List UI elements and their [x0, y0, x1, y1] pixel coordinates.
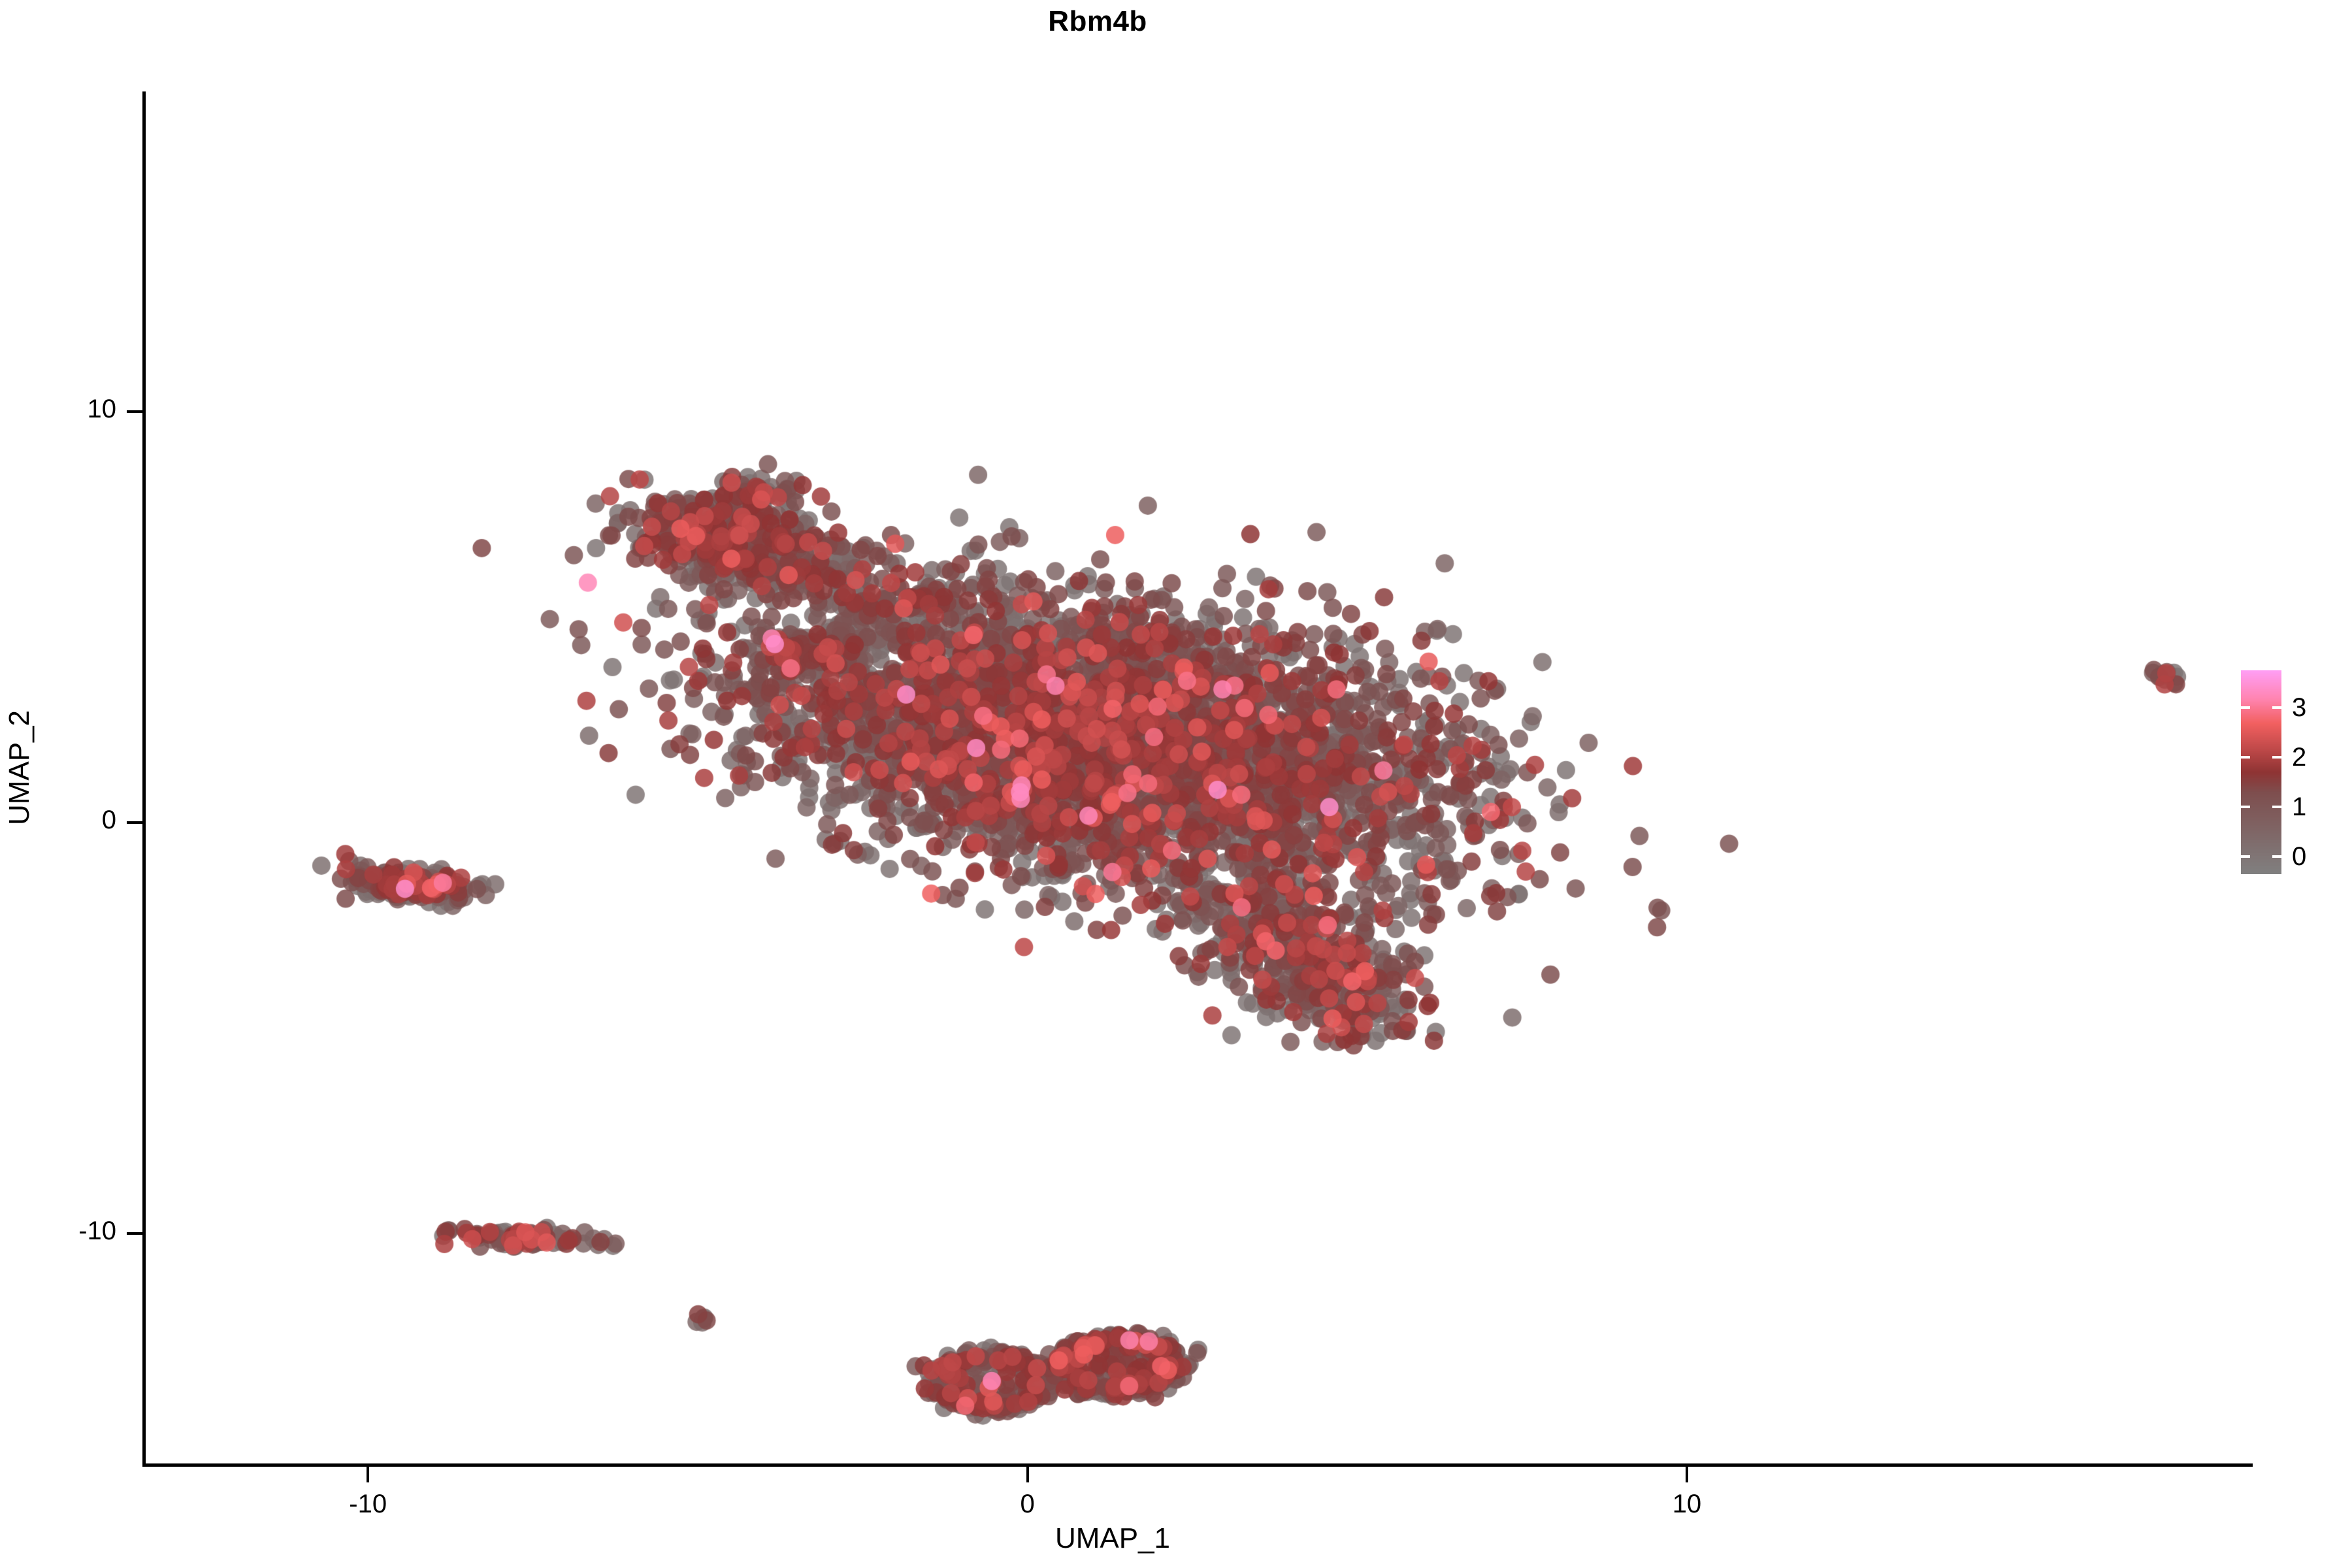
y-tick-label: -10 — [0, 1217, 116, 1246]
colorbar-tick-mark — [2241, 806, 2250, 808]
y-axis-line — [142, 91, 146, 1467]
x-axis-line — [142, 1463, 2253, 1467]
y-axis-title: UMAP_2 — [3, 441, 36, 1094]
x-axis-title: UMAP_1 — [57, 1522, 2168, 1555]
colorbar-gradient — [2241, 670, 2281, 874]
colorbar-tick-label: 3 — [2292, 694, 2306, 721]
plot-panel[interactable] — [144, 91, 2254, 1463]
colorbar-tick-mark — [2272, 806, 2281, 808]
colorbar-tick-mark — [2241, 706, 2250, 709]
y-tick-mark — [127, 1232, 142, 1235]
colorbar-tick-label: 2 — [2292, 744, 2306, 770]
colorbar-tick-mark — [2241, 855, 2250, 858]
y-tick-mark — [127, 821, 142, 824]
colorbar-tick-mark — [2272, 706, 2281, 709]
plot-title: Rbm4b — [0, 5, 2274, 38]
x-tick-label: 10 — [1622, 1490, 1752, 1519]
y-tick-label: 10 — [0, 395, 116, 424]
x-tick-label: 0 — [962, 1490, 1093, 1519]
colorbar-tick-mark — [2241, 756, 2250, 759]
colorbar-tick-mark — [2272, 855, 2281, 858]
scatter-canvas[interactable] — [144, 91, 2254, 1463]
x-tick-mark — [1686, 1467, 1688, 1482]
colorbar-tick-label: 1 — [2292, 794, 2306, 820]
color-legend[interactable]: 3210 — [2241, 666, 2339, 889]
umap-feature-plot: Rbm4b -10010 100-10 UMAP_1 UMAP_2 3210 — [0, 0, 2352, 1568]
colorbar-tick-mark — [2272, 756, 2281, 759]
colorbar-tick-label: 0 — [2292, 843, 2306, 870]
x-tick-label: -10 — [302, 1490, 433, 1519]
x-tick-mark — [1026, 1467, 1029, 1482]
x-tick-mark — [367, 1467, 369, 1482]
y-tick-mark — [127, 410, 142, 413]
